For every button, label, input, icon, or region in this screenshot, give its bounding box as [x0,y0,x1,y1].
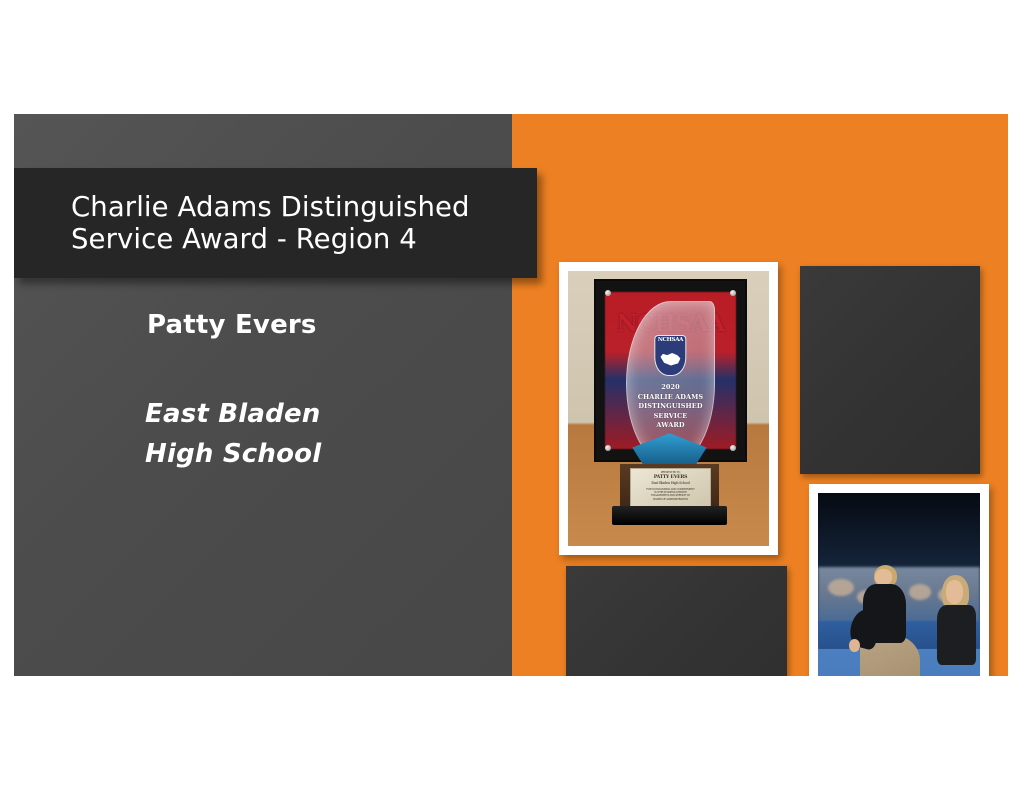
trophy-photo: NCHSAA NCHSAA 2020 CHARLIE ADAMS DISTING… [568,271,769,546]
plate-citation-text: FOR OUTSTANDING AND COMMITMENT TO THE ST… [631,488,709,502]
plate-school-name: East Bladen High School [631,481,709,486]
nchsaa-shield-label: NCHSAA [656,336,685,344]
spectator-body [937,605,976,664]
coach-hand [849,639,860,652]
trophy-screw-icon [730,445,736,451]
picture-placeholder-bottom-left[interactable] [566,566,787,676]
coach-photo-frame[interactable] [809,484,989,676]
slide-title: Charlie Adams Distinguished Service Awar… [71,191,470,256]
trophy-screw-icon [605,445,611,451]
slide-title-band: Charlie Adams Distinguished Service Awar… [14,168,537,278]
trophy-photo-frame[interactable]: NCHSAA NCHSAA 2020 CHARLIE ADAMS DISTING… [559,262,778,555]
trophy-black-base [612,506,727,525]
gym-ceiling [818,493,980,567]
state-outline-icon [660,351,680,366]
crowd-person [828,579,854,596]
honoree-school: East Bladen High School [145,395,321,474]
honoree-name: Patty Evers [147,310,317,340]
nchsaa-shield-icon: NCHSAA [655,335,686,376]
spectator-figure [936,575,978,677]
spectator-face [946,580,964,604]
coach-photo [818,493,980,676]
presentation-slide: Charlie Adams Distinguished Service Awar… [14,114,1008,676]
trophy-name-plate: PRESENTED TO PATTY EVERS East Bladen Hig… [630,468,710,507]
trophy-engraving: 2020 CHARLIE ADAMS DISTINGUISHED SERVICE… [631,383,711,431]
picture-placeholder-top-right[interactable] [800,266,980,474]
coach-figure [854,565,932,676]
